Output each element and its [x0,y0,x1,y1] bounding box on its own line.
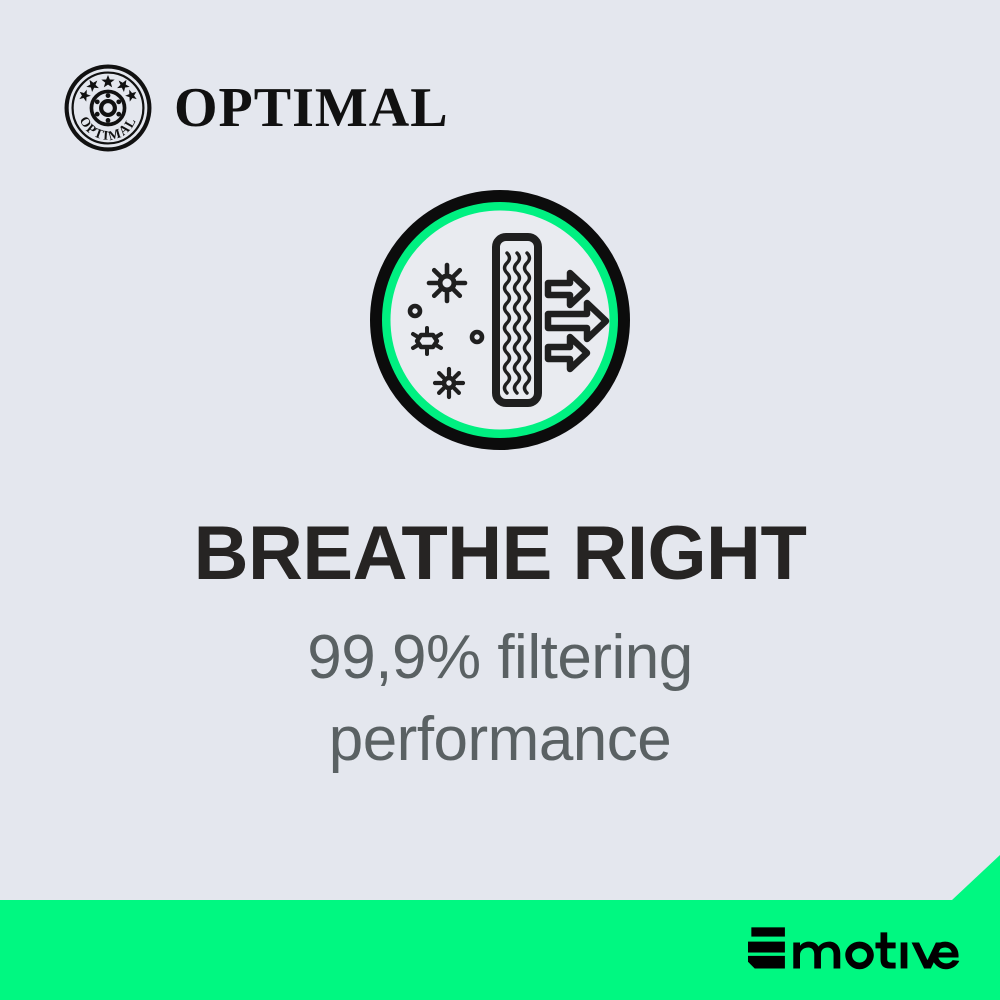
emotive-logo-glyphs [748,927,959,969]
optimal-badge-icon: OPTIMAL [62,62,154,154]
footer-band [0,855,1000,1000]
hero-icon [365,185,635,455]
badge-bearing [91,91,124,124]
text-block: BREATHE RIGHT 99,9% filtering performanc… [0,515,1000,781]
subheadline-line-2: performance [70,699,930,781]
emotive-logo [748,924,966,976]
subheadline-line-1: 99,9% filtering [70,617,930,699]
filter-waves [505,253,530,393]
promo-card: OPTIMAL OPTIMAL [0,0,1000,1000]
brand-header: OPTIMAL OPTIMAL [62,62,449,154]
air-filter-badge-icon [365,185,635,455]
subheadline: 99,9% filtering performance [70,617,930,782]
brand-wordmark: OPTIMAL [174,80,449,136]
headline: BREATHE RIGHT [70,515,930,593]
